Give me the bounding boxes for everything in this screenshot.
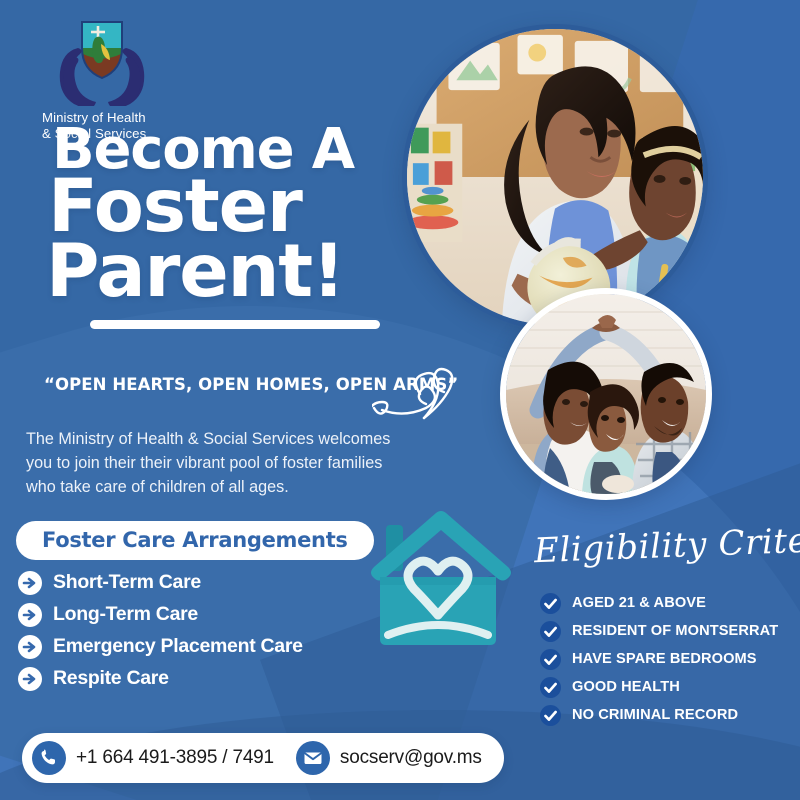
headline-underline-rule [90,320,380,329]
photo-family-roof-hands [500,288,712,500]
poster-canvas: Ministry of Health & Social Services Bec… [0,0,800,800]
list-item-label: Respite Care [53,667,169,690]
foster-care-arrangements-badge: Foster Care Arrangements [16,521,374,560]
list-item[interactable]: Short-Term Care [18,568,378,597]
headline: Become A Foster Parent! [52,126,472,329]
contact-bar: +1 664 491-3895 / 7491 socserv@gov.ms [22,733,504,783]
heart-swirl-icon [372,360,458,430]
arrow-right-circle-icon [18,667,42,691]
contact-email-text[interactable]: socserv@gov.ms [340,747,482,769]
envelope-icon[interactable] [296,741,330,775]
foster-care-arrangements-list: Short-Term Care Long-Term Care Emergency… [18,568,378,696]
list-item-label: NO CRIMINAL RECORD [572,707,738,723]
contact-phone-text[interactable]: +1 664 491-3895 / 7491 [76,747,274,769]
list-item: NO CRIMINAL RECORD [540,702,798,728]
headline-line-3: Parent! [46,241,472,304]
check-circle-icon [540,705,561,726]
list-item-label: Emergency Placement Care [53,635,303,658]
list-item: AGED 21 & ABOVE [540,590,798,616]
heart-swirl-doodle [372,360,458,430]
list-item-label: GOOD HEALTH [572,679,680,695]
arrow-right-circle-icon [18,603,42,627]
list-item[interactable]: Emergency Placement Care [18,632,378,661]
arrow-right-circle-icon [18,635,42,659]
list-item-label: RESIDENT OF MONTSERRAT [572,623,778,639]
eligibility-criteria-list: AGED 21 & ABOVE RESIDENT OF MONTSERRAT H… [540,590,798,730]
eligibility-criteria-title: Eligibility Criteria [533,522,800,568]
photo-family-roof-hands-image [506,294,706,494]
list-item: RESIDENT OF MONTSERRAT [540,618,798,644]
ministry-logo-icon [32,18,172,106]
phone-icon[interactable] [32,741,66,775]
check-circle-icon [540,649,561,670]
list-item-label: Long-Term Care [53,603,198,626]
body-paragraph: The Ministry of Health & Social Services… [26,428,398,500]
list-item[interactable]: Respite Care [18,664,378,693]
list-item[interactable]: Long-Term Care [18,600,378,629]
list-item: HAVE SPARE BEDROOMS [540,646,798,672]
house-with-heart-icon [358,503,518,655]
cupped-hands-coat-of-arms-icon [32,18,172,106]
list-item-label: Short-Term Care [53,571,201,594]
check-circle-icon [540,677,561,698]
list-item-label: HAVE SPARE BEDROOMS [572,651,757,667]
list-item: GOOD HEALTH [540,674,798,700]
list-item-label: AGED 21 & ABOVE [572,595,706,611]
house-heart-graphic [358,503,518,655]
arrow-right-circle-icon [18,571,42,595]
check-circle-icon [540,593,561,614]
check-circle-icon [540,621,561,642]
